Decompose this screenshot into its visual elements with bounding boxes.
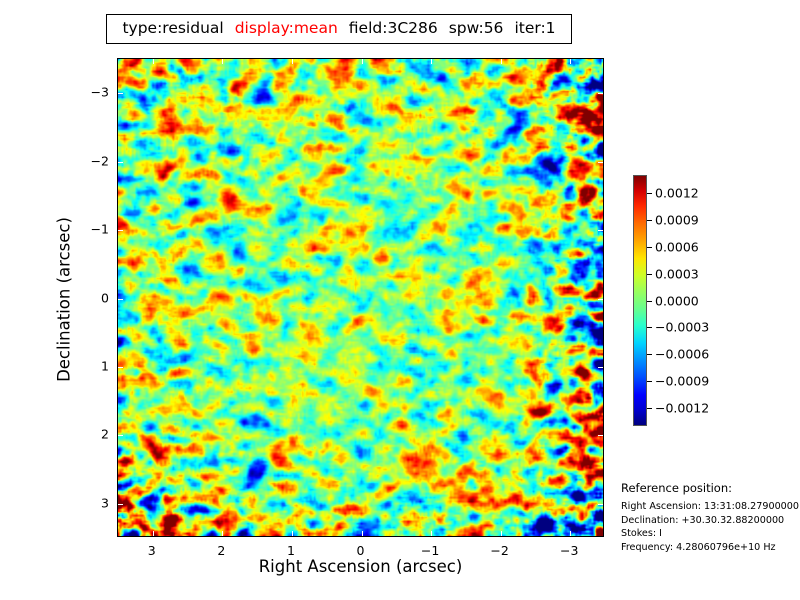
residual-image-plot[interactable] [117,58,604,537]
title-segment-display: display:mean [235,21,338,37]
reference-position-ra: Right Ascension: 13:31:08.27900000 [621,500,799,514]
x-tick-label: 3 [148,543,156,558]
title-segment-iter: iter:1 [514,21,555,37]
residual-image-canvas[interactable] [118,59,603,536]
colorbar-tick-mark [647,381,652,382]
x-tick-label: 0 [357,543,365,558]
colorbar-tick-label: −0.0006 [655,347,709,362]
colorbar-tick-label: −0.0009 [655,374,709,389]
colorbar-tick-label: 0.0000 [655,293,699,308]
colorbar-tick-mark [647,327,652,328]
colorbar-tick-label: −0.0012 [655,401,709,416]
colorbar-tick-label: 0.0006 [655,239,699,254]
image-title-box: type:residual display:mean field:3C286 s… [106,14,572,44]
x-tick-label: 1 [287,543,295,558]
colorbar-tick-mark [647,354,652,355]
colorbar-tick-mark [647,220,652,221]
colorbar-tick-mark [647,408,652,409]
y-tick-label: −2 [81,153,109,168]
reference-position-frequency: Frequency: 4.28060796e+10 Hz [621,541,799,555]
colorbar-tick-label: 0.0012 [655,185,699,200]
colorbar-tick-mark [647,193,652,194]
y-tick-label: 1 [81,358,109,373]
title-segment-type: type:residual [122,21,223,37]
colorbar[interactable] [633,175,647,426]
y-tick-label: 0 [81,290,109,305]
y-tick-label: 3 [81,495,109,510]
colorbar-tick-label: −0.0003 [655,320,709,335]
y-axis-title: Declination (arcsec) [55,60,74,540]
x-tick-label: 2 [217,543,225,558]
colorbar-tick-mark [647,301,652,302]
x-tick-label: −3 [560,543,578,558]
colorbar-tick-label: 0.0009 [655,212,699,227]
y-tick-label: 2 [81,427,109,442]
reference-position-heading: Reference position: [621,481,799,495]
colorbar-tick-mark [647,274,652,275]
x-tick-label: −1 [421,543,439,558]
reference-position-dec: Declination: +30.30.32.88200000 [621,514,799,528]
colorbar-tick-mark [647,247,652,248]
colorbar-gradient [633,175,647,426]
title-segment-field: field:3C286 [349,21,438,37]
title-segment-spw: spw:56 [449,21,504,37]
y-tick-label: −3 [81,85,109,100]
x-axis-title: Right Ascension (arcsec) [117,557,604,576]
reference-position-stokes: Stokes: I [621,527,799,541]
colorbar-tick-label: 0.0003 [655,266,699,281]
reference-position-block: Reference position: Right Ascension: 13:… [621,481,799,554]
x-tick-label: −2 [490,543,508,558]
y-tick-label: −1 [81,222,109,237]
